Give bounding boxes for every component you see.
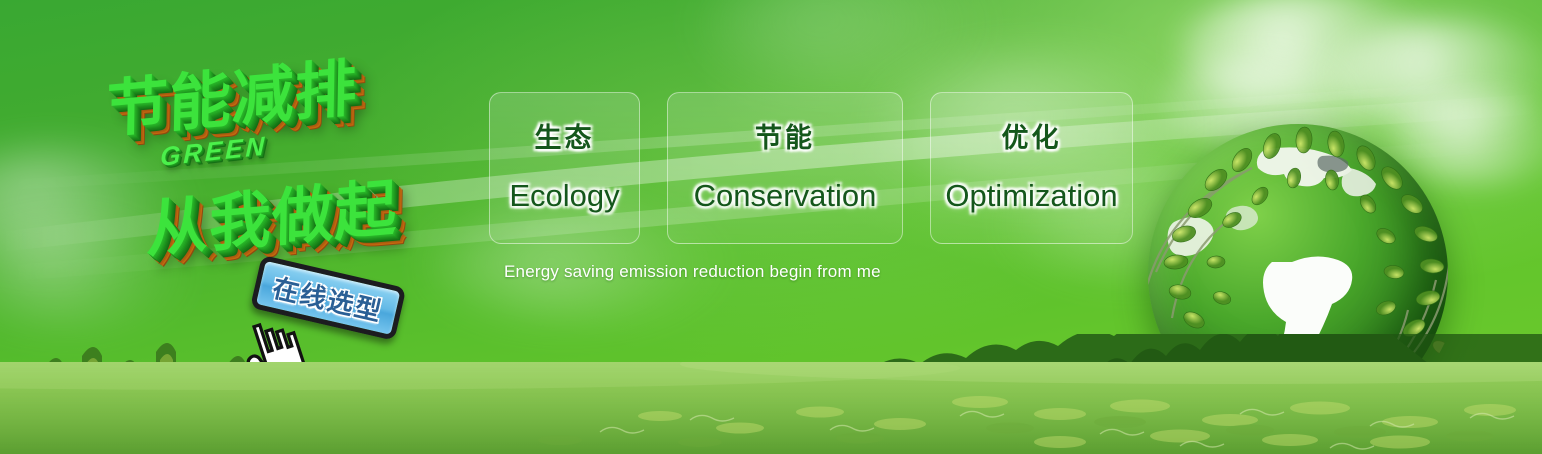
banner-tagline: Energy saving emission reduction begin f…	[504, 262, 881, 282]
feature-card-list: 生态 Ecology 节能 Conservation 优化 Optimizati…	[489, 92, 1133, 244]
cloud-decoration	[700, 0, 1000, 80]
feature-card-cn-label: 生态	[535, 125, 595, 152]
feature-card-cn-label: 优化	[1002, 125, 1062, 152]
eco-hero-banner: 节能减排 GREEN 从我做起 在线选型 生态 Ecology 节能 Conse…	[0, 0, 1542, 454]
feature-card-en-label: Conservation	[694, 180, 877, 211]
headline-line-1: 节能减排	[106, 37, 359, 149]
headline-line-2: 从我做起	[146, 157, 399, 269]
feature-card-ecology[interactable]: 生态 Ecology	[489, 92, 640, 244]
feature-card-optimization[interactable]: 优化 Optimization	[930, 92, 1133, 244]
feature-card-en-label: Optimization	[945, 180, 1117, 211]
feature-card-conservation[interactable]: 节能 Conservation	[667, 92, 903, 244]
feature-card-en-label: Ecology	[509, 180, 619, 211]
feature-card-cn-label: 节能	[755, 125, 815, 152]
grass-texture-decoration	[0, 362, 1542, 454]
headline-3d-logo: 节能减排 GREEN 从我做起	[98, 40, 478, 270]
